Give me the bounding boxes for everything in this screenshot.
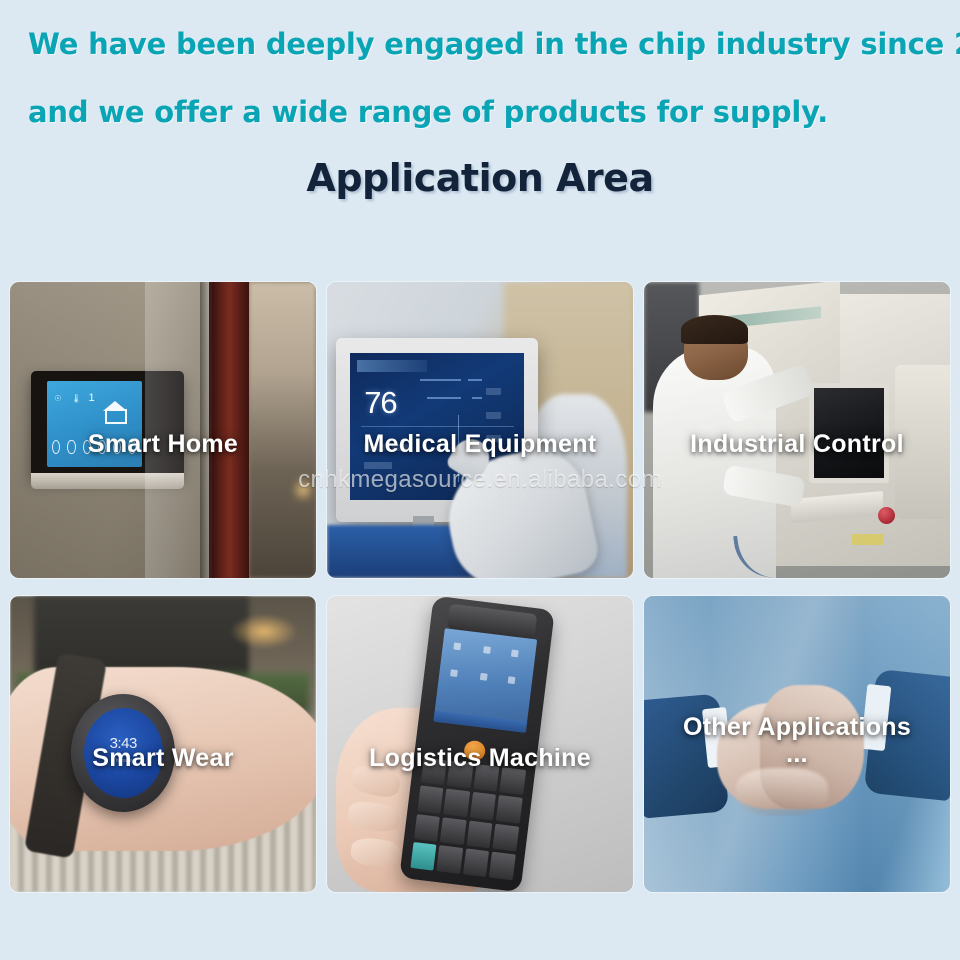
application-area-grid: ☉ 🌡 1 bbox=[10, 282, 950, 892]
smart-wear-scene: 3:43 Thursday bbox=[10, 596, 316, 892]
keypad-key bbox=[499, 767, 525, 795]
music-icon bbox=[113, 440, 121, 454]
camera-icon bbox=[98, 440, 106, 454]
control-monitor bbox=[809, 383, 889, 484]
desktop-icon bbox=[482, 646, 490, 654]
emergency-stop-button bbox=[878, 507, 895, 524]
desktop-icon bbox=[479, 672, 487, 680]
keypad-key bbox=[420, 757, 446, 785]
room-lamp bbox=[294, 477, 312, 503]
monitor-tile bbox=[392, 444, 409, 451]
headline-line-1: We have been deeply engaged in the chip … bbox=[28, 30, 960, 59]
card-logistics-machine[interactable]: Logistics Machine bbox=[327, 596, 633, 892]
terminal-keypad bbox=[410, 757, 526, 880]
keypad-key bbox=[440, 817, 466, 845]
desktop-icon bbox=[507, 676, 515, 684]
monitor-tile bbox=[486, 412, 502, 419]
temperature-value: 1 bbox=[88, 393, 94, 404]
keypad-key bbox=[447, 761, 473, 789]
door-frame bbox=[209, 282, 249, 578]
headline-line-2: and we offer a wide range of products fo… bbox=[28, 98, 828, 127]
monitor-tick bbox=[468, 379, 482, 381]
terminal-screen bbox=[433, 628, 537, 732]
smart-panel-screen: ☉ 🌡 1 bbox=[47, 381, 142, 466]
light-glare bbox=[145, 282, 212, 578]
keypad-key bbox=[413, 814, 439, 842]
keypad-key bbox=[466, 820, 492, 848]
page-title: Application Area bbox=[0, 156, 960, 200]
monitor-tick bbox=[420, 379, 462, 381]
desktop-icon bbox=[453, 643, 461, 651]
sun-icon: ☉ bbox=[54, 395, 61, 403]
monitor-tile bbox=[364, 444, 385, 451]
orange-navigation-button bbox=[463, 740, 486, 762]
monitor-top-bar bbox=[357, 360, 426, 372]
waveform-baseline bbox=[361, 426, 514, 427]
technician-hair bbox=[681, 315, 748, 345]
watch-subtext: Thursday bbox=[84, 758, 163, 764]
keypad-key bbox=[492, 824, 518, 852]
machine-right-unit bbox=[895, 365, 950, 519]
watch-time: 3:43 bbox=[84, 735, 163, 752]
other-applications-scene bbox=[644, 596, 950, 892]
keypad-key bbox=[469, 792, 495, 820]
keypad-key bbox=[489, 852, 515, 880]
background-room bbox=[249, 282, 316, 578]
smartwatch-case: 3:43 Thursday bbox=[71, 694, 175, 812]
keypad-key bbox=[417, 786, 443, 814]
warning-label bbox=[852, 534, 883, 546]
monitor-tile bbox=[486, 435, 502, 442]
house-icon bbox=[102, 400, 128, 424]
desktop-icon bbox=[450, 669, 458, 677]
monitor-heart-rate-value: 76 bbox=[364, 385, 396, 421]
tv-icon bbox=[128, 440, 136, 454]
terminal-taskbar bbox=[433, 710, 527, 733]
keypad-key bbox=[443, 789, 469, 817]
lock-icon bbox=[83, 440, 91, 454]
fan-icon bbox=[52, 440, 60, 454]
card-industrial-control[interactable]: Industrial Control bbox=[644, 282, 950, 578]
medical-equipment-scene: 76 bbox=[327, 282, 633, 578]
card-smart-home[interactable]: ☉ 🌡 1 bbox=[10, 282, 316, 578]
smart-home-scene: ☉ 🌡 1 bbox=[10, 282, 316, 578]
application-area-page: We have been deeply engaged in the chip … bbox=[0, 0, 960, 960]
monitor-tile bbox=[364, 462, 392, 469]
keypad-key bbox=[462, 849, 488, 877]
card-smart-wear[interactable]: 3:43 Thursday Smart Wear bbox=[10, 596, 316, 892]
desktop-icon bbox=[510, 650, 518, 658]
thermometer-icon: 🌡 bbox=[71, 395, 81, 403]
quick-actions-row bbox=[52, 439, 135, 455]
keypad-key-function bbox=[410, 842, 436, 870]
monitor-tick bbox=[472, 397, 482, 399]
monitor-tile bbox=[486, 388, 502, 395]
monitor-tick bbox=[427, 397, 462, 399]
smartwatch-face: 3:43 Thursday bbox=[84, 708, 163, 798]
industrial-control-scene bbox=[644, 282, 950, 578]
light-icon bbox=[67, 440, 75, 454]
keypad-key bbox=[436, 845, 462, 873]
keypad-key bbox=[496, 795, 522, 823]
card-other-applications[interactable]: Other Applications ... bbox=[644, 596, 950, 892]
card-medical-equipment[interactable]: 76 bbox=[327, 282, 633, 578]
logistics-machine-scene bbox=[327, 596, 633, 892]
handshake-knuckles bbox=[736, 768, 828, 815]
bokeh-lights bbox=[230, 614, 297, 650]
keypad-key bbox=[473, 764, 499, 792]
